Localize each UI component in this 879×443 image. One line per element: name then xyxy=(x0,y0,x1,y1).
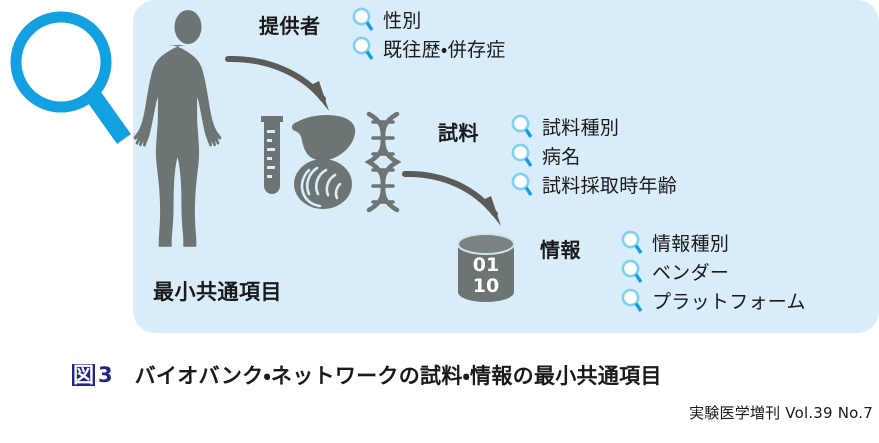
search-icon xyxy=(4,4,134,154)
search-icon xyxy=(620,288,644,314)
database-binary-bottom: 10 xyxy=(473,275,499,297)
figure-caption-block: 図 3 バイオバンク・ネットワークの試料・情報の最小共通項目 実験医学増刊 Vo… xyxy=(0,360,879,423)
caption-line: 図 3 バイオバンク・ネットワークの試料・情報の最小共通項目 xyxy=(0,360,879,390)
bullet-list-provider: 性別 既往歴・併存症 xyxy=(351,5,506,63)
search-icon xyxy=(510,172,534,198)
bullet-list-information: 情報種別 ベンダー プラットフォーム xyxy=(620,228,806,315)
group-label-sample: 試料 xyxy=(438,117,479,146)
search-icon xyxy=(351,36,375,62)
figure-number-badge: 図 3 xyxy=(72,363,113,387)
figure-kanji: 図 xyxy=(72,364,95,387)
person-silhouette-icon xyxy=(134,10,222,247)
bullet-list-sample: 試料種別 病名 試料採取時年齢 xyxy=(510,112,677,199)
test-tube-icon xyxy=(261,116,283,194)
group-label-information: 情報 xyxy=(540,234,581,263)
list-item: 性別 xyxy=(351,5,506,34)
list-item-label: 試料採取時年齢 xyxy=(542,171,677,198)
list-item-label: 情報種別 xyxy=(652,229,729,256)
list-item: 病名 xyxy=(510,141,677,170)
figure-title: バイオバンク・ネットワークの試料・情報の最小共通項目 xyxy=(135,360,662,390)
list-item-label: ベンダー xyxy=(652,258,729,285)
list-item-label: プラットフォーム xyxy=(652,287,806,314)
cell-icon xyxy=(294,159,352,209)
search-icon xyxy=(620,259,644,285)
list-item: プラットフォーム xyxy=(620,286,806,315)
dna-helix-icon xyxy=(369,114,397,210)
group-label-provider: 提供者 xyxy=(259,10,321,39)
search-icon xyxy=(351,7,375,33)
liver-icon xyxy=(292,115,355,161)
diagram-panel: 01 10 提供者 性別 既往歴・併存症 試料 試料種別 xyxy=(133,0,879,333)
list-item-label: 試料種別 xyxy=(542,113,619,140)
database-binary-top: 01 xyxy=(473,254,499,276)
list-item: 既往歴・併存症 xyxy=(351,34,506,63)
curved-arrow-icon xyxy=(405,174,501,226)
search-icon xyxy=(620,230,644,256)
list-item: ベンダー xyxy=(620,257,806,286)
figure-source: 実験医学増刊 Vol.39 No.7 xyxy=(0,402,879,423)
list-item-label: 病名 xyxy=(542,142,581,169)
panel-label-minimum-common-items: 最小共通項目 xyxy=(153,276,282,306)
list-item: 試料種別 xyxy=(510,112,677,141)
list-item-label: 既往歴・併存症 xyxy=(383,35,506,62)
curved-arrow-icon xyxy=(228,59,329,111)
search-icon xyxy=(510,114,534,140)
list-item-label: 性別 xyxy=(383,6,422,33)
search-icon xyxy=(510,143,534,169)
list-item: 試料採取時年齢 xyxy=(510,170,677,199)
list-item: 情報種別 xyxy=(620,228,806,257)
figure-number: 3 xyxy=(98,363,113,387)
